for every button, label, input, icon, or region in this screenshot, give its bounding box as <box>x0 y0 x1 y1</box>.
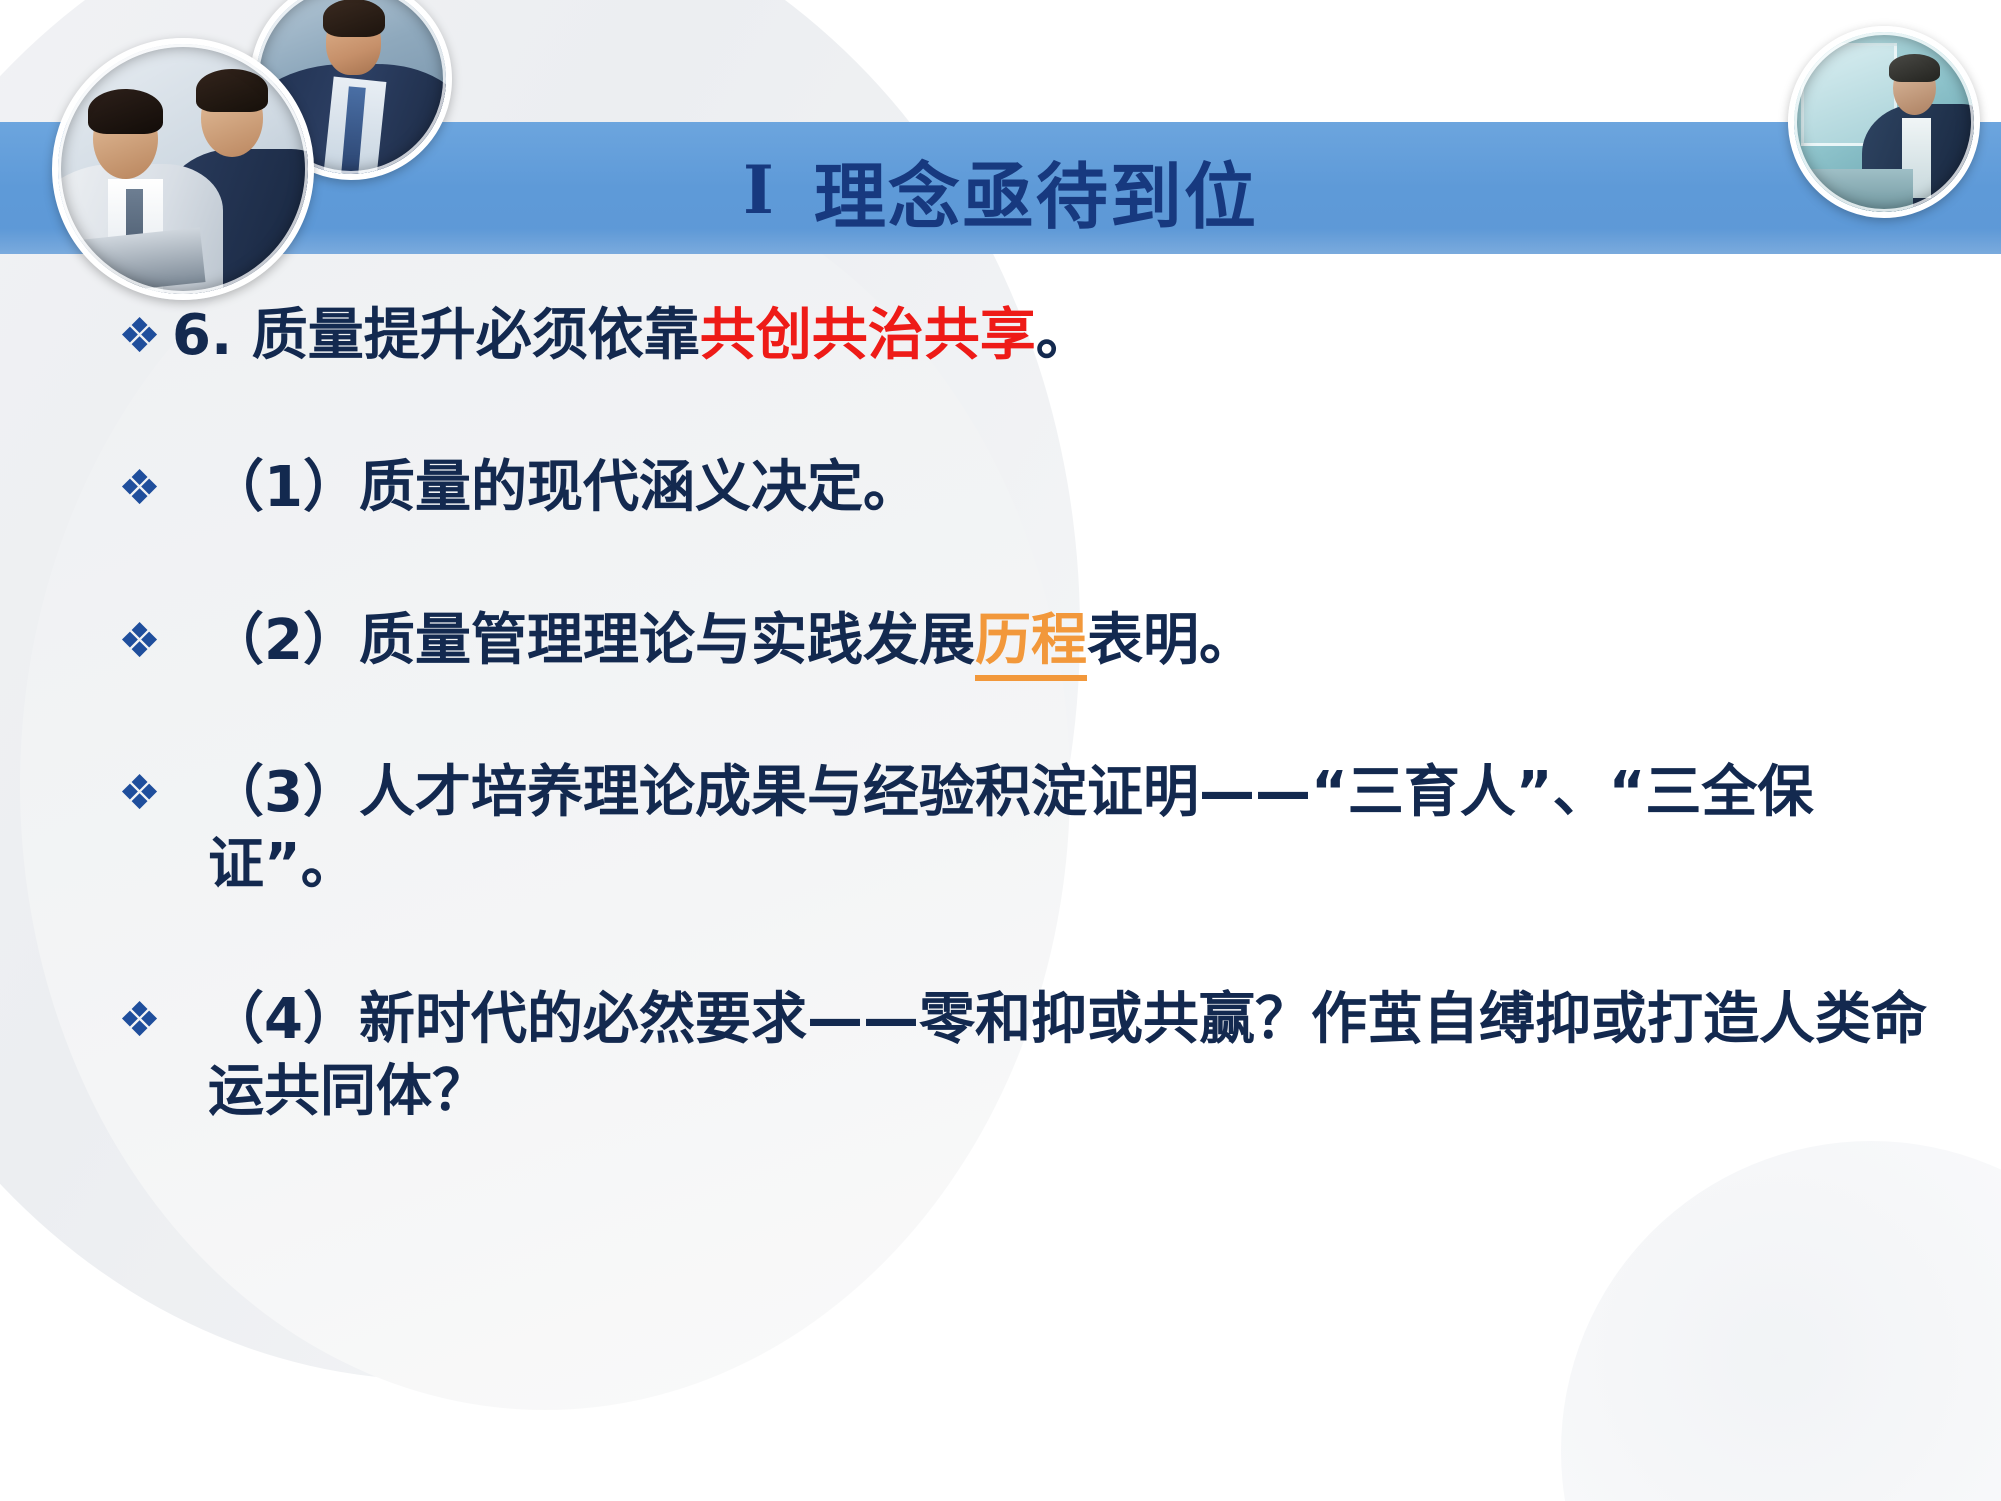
slide-body: ❖ 6. 质量提升必须依靠共创共治共享。 ❖ （1）质量的现代涵义决定。 ❖ （… <box>0 300 2001 1128</box>
bullet-6-lead: 6. 质量提升必须依靠 <box>172 303 700 368</box>
corner-fade-decoration <box>1561 1141 2001 1501</box>
bullet-item-3: ❖ （3）人才培养理论成果与经验积淀证明——“三育人”、“三全保证”。 <box>0 757 2001 900</box>
bullet-diamond-icon: ❖ <box>118 464 172 512</box>
bullet-diamond-icon: ❖ <box>118 312 172 360</box>
bullet-4-main: （4）新时代的必然要求——零和抑或共赢？作茧自缚抑 <box>208 987 1591 1052</box>
bullet-item-2-text: （2）质量管理理论与实践发展历程表明。 <box>172 605 1941 677</box>
bullet-6-tail: 。 <box>1036 303 1092 368</box>
photo-team-laptop <box>52 38 314 300</box>
bullet-item-3-text: （3）人才培养理论成果与经验积淀证明——“三育人”、“三全保证”。 <box>172 757 1941 900</box>
bullet-item-6-text: 6. 质量提升必须依靠共创共治共享。 <box>172 300 1941 372</box>
bullet-diamond-icon: ❖ <box>118 769 172 817</box>
bullet-6-highlight-red: 共创共治共享 <box>700 303 1036 368</box>
bullet-2-tail: 表明。 <box>1087 608 1255 673</box>
bullet-diamond-icon: ❖ <box>118 996 172 1044</box>
presentation-slide: Ⅰ 理念亟待到位 ❖ <box>0 0 2001 1501</box>
bullet-item-2: ❖ （2）质量管理理论与实践发展历程表明。 <box>0 605 2001 677</box>
title-numeral: Ⅰ <box>743 151 776 229</box>
photo-man-at-desk <box>1788 26 1980 218</box>
bullet-3-main: （3）人才培养理论成果与经验积淀证明——“三育人” <box>208 760 1553 825</box>
bullet-item-4: ❖ （4）新时代的必然要求——零和抑或共赢？作茧自缚抑或打造人类命运共同体？ <box>0 984 2001 1127</box>
bullet-diamond-icon: ❖ <box>118 617 172 665</box>
photo-c-ring <box>1794 32 1974 212</box>
bullet-2-lead: （2）质量管理理论与实践发展 <box>208 608 975 673</box>
bullet-item-4-text: （4）新时代的必然要求——零和抑或共赢？作茧自缚抑或打造人类命运共同体？ <box>172 984 1941 1127</box>
bullet-item-1-text: （1）质量的现代涵义决定。 <box>172 452 1941 524</box>
bullet-item-1: ❖ （1）质量的现代涵义决定。 <box>0 452 2001 524</box>
bullet-item-6: ❖ 6. 质量提升必须依靠共创共治共享。 <box>0 300 2001 372</box>
photo-b-ring <box>58 44 308 294</box>
bullet-2-highlight-orange: 历程 <box>975 608 1087 681</box>
title-label: 理念亟待到位 <box>814 138 1258 243</box>
